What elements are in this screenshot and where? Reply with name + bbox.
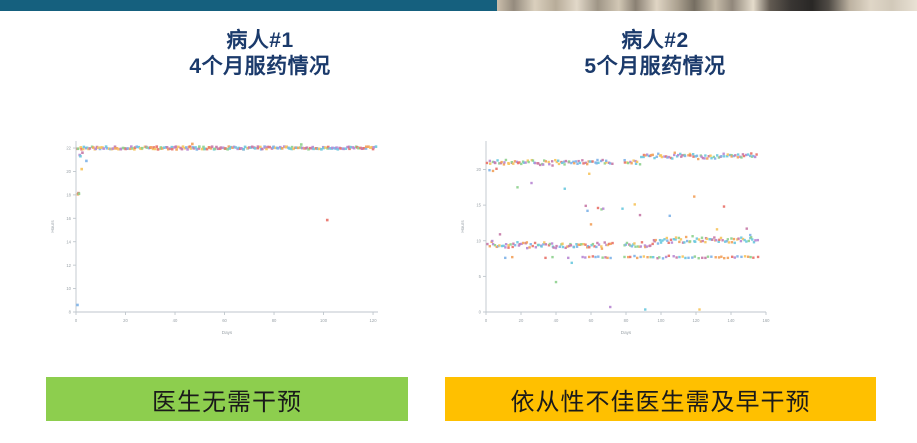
svg-text:5: 5 <box>479 274 482 279</box>
photo-strip <box>497 0 917 11</box>
svg-text:10: 10 <box>476 238 481 243</box>
svg-text:60: 60 <box>589 318 594 323</box>
svg-text:10: 10 <box>66 286 71 291</box>
chart-canvas-patient-1: 020406080100120810121416182022DaysHours <box>46 133 386 338</box>
svg-text:8: 8 <box>69 310 72 315</box>
scatter-chart-patient-2: 02040608010012014016005101520DaysHours <box>456 133 774 338</box>
svg-text:Hours: Hours <box>50 220 55 233</box>
page-title-patient-1: 病人#1 4个月服药情况 <box>120 28 400 80</box>
svg-text:80: 80 <box>272 318 277 323</box>
svg-text:140: 140 <box>728 318 736 323</box>
svg-text:100: 100 <box>658 318 666 323</box>
svg-text:160: 160 <box>763 318 771 323</box>
svg-text:20: 20 <box>519 318 524 323</box>
svg-text:0: 0 <box>479 310 482 315</box>
page-title-patient-2: 病人#2 5个月服药情况 <box>515 28 795 80</box>
svg-text:40: 40 <box>173 318 178 323</box>
conclusion-banner-right: 依从性不佳医生需及早干预 <box>445 377 876 421</box>
svg-text:40: 40 <box>554 318 559 323</box>
svg-text:20: 20 <box>66 169 71 174</box>
decorative-top-strip <box>0 0 917 11</box>
svg-text:120: 120 <box>693 318 701 323</box>
svg-text:Days: Days <box>222 330 233 335</box>
svg-text:14: 14 <box>66 239 71 244</box>
svg-text:20: 20 <box>123 318 128 323</box>
svg-text:16: 16 <box>66 216 71 221</box>
chart-canvas-patient-2: 02040608010012014016005101520DaysHours <box>456 133 774 338</box>
svg-text:Days: Days <box>621 330 632 335</box>
svg-text:15: 15 <box>476 203 481 208</box>
svg-text:0: 0 <box>485 318 488 323</box>
svg-text:0: 0 <box>75 318 78 323</box>
svg-text:80: 80 <box>624 318 629 323</box>
teal-accent-bar <box>0 0 497 11</box>
svg-text:60: 60 <box>222 318 227 323</box>
svg-text:18: 18 <box>66 192 71 197</box>
svg-text:12: 12 <box>66 263 71 268</box>
conclusion-banner-left: 医生无需干预 <box>46 377 408 421</box>
svg-text:20: 20 <box>476 167 481 172</box>
svg-text:100: 100 <box>320 318 328 323</box>
svg-text:Hours: Hours <box>460 220 465 233</box>
svg-text:120: 120 <box>370 318 378 323</box>
scatter-chart-patient-1: 020406080100120810121416182022DaysHours <box>46 133 386 338</box>
svg-text:22: 22 <box>66 146 71 151</box>
